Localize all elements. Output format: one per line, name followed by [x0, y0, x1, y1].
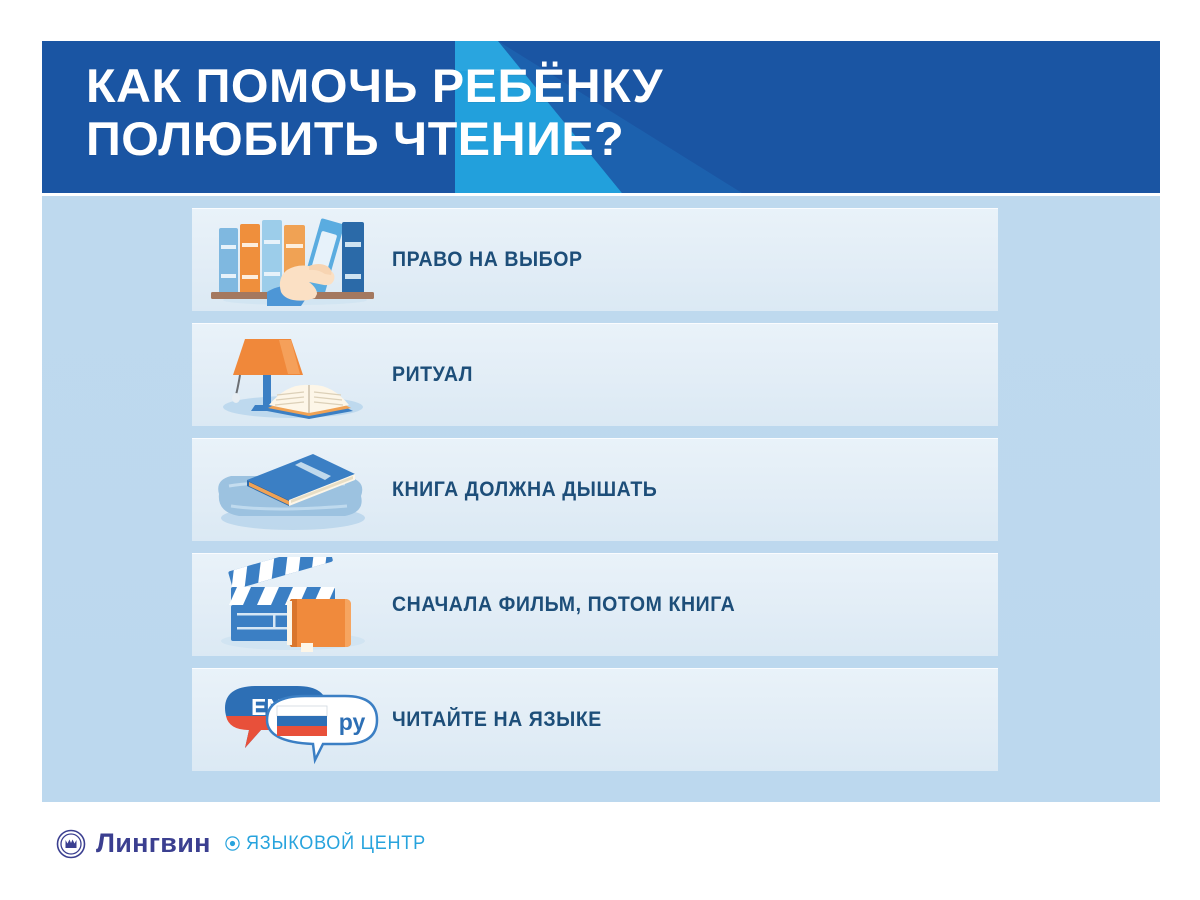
- list-item[interactable]: ПРАВО НА ВЫБОР: [192, 208, 998, 311]
- bubble-ru-label: ру: [338, 709, 365, 735]
- copyright-circle-icon: [225, 836, 240, 851]
- list-item[interactable]: РИТУАЛ: [192, 323, 998, 426]
- brand-subtitle-group: ЯЗЫКОВОЙ ЦЕНТР: [225, 833, 435, 855]
- footer-branding: Лингвин ЯЗЫКОВОЙ ЦЕНТР: [56, 828, 435, 859]
- header-banner: КАК ПОМОЧЬ РЕБЁНКУ ПОЛЮБИТЬ ЧТЕНИЕ?: [42, 41, 1160, 193]
- list-item-label: ПРАВО НА ВЫБОР: [392, 248, 583, 272]
- list-item[interactable]: СНАЧАЛА ФИЛЬМ, ПОТОМ КНИГА: [192, 553, 998, 656]
- page-title: КАК ПОМОЧЬ РЕБЁНКУ ПОЛЮБИТЬ ЧТЕНИЕ?: [86, 59, 663, 165]
- brand-subtitle: ЯЗЫКОВОЙ ЦЕНТР: [246, 833, 426, 855]
- lamp-open-book-icon: [192, 323, 392, 426]
- book-on-pillow-icon: [192, 438, 392, 541]
- list-item[interactable]: EN ру ЧИТАЙТЕ НА ЯЗЫКЕ: [192, 668, 998, 771]
- tips-panel: ПРАВО НА ВЫБОР: [42, 196, 1160, 802]
- list-item-label: СНАЧАЛА ФИЛЬМ, ПОТОМ КНИГА: [392, 593, 735, 617]
- bookshelf-hand-icon: [192, 208, 392, 311]
- list-item[interactable]: КНИГА ДОЛЖНА ДЫШАТЬ: [192, 438, 998, 541]
- clapperboard-book-icon: [192, 553, 392, 656]
- list-item-label: РИТУАЛ: [392, 363, 473, 387]
- list-item-label: КНИГА ДОЛЖНА ДЫШАТЬ: [392, 478, 657, 502]
- list-item-label: ЧИТАЙТЕ НА ЯЗЫКЕ: [392, 708, 602, 732]
- brand-name: Лингвин: [96, 828, 211, 859]
- lingvin-crown-logo-icon: [56, 829, 86, 859]
- tips-list: ПРАВО НА ВЫБОР: [192, 208, 998, 771]
- speech-bubbles-en-ru-icon: EN ру: [192, 668, 392, 771]
